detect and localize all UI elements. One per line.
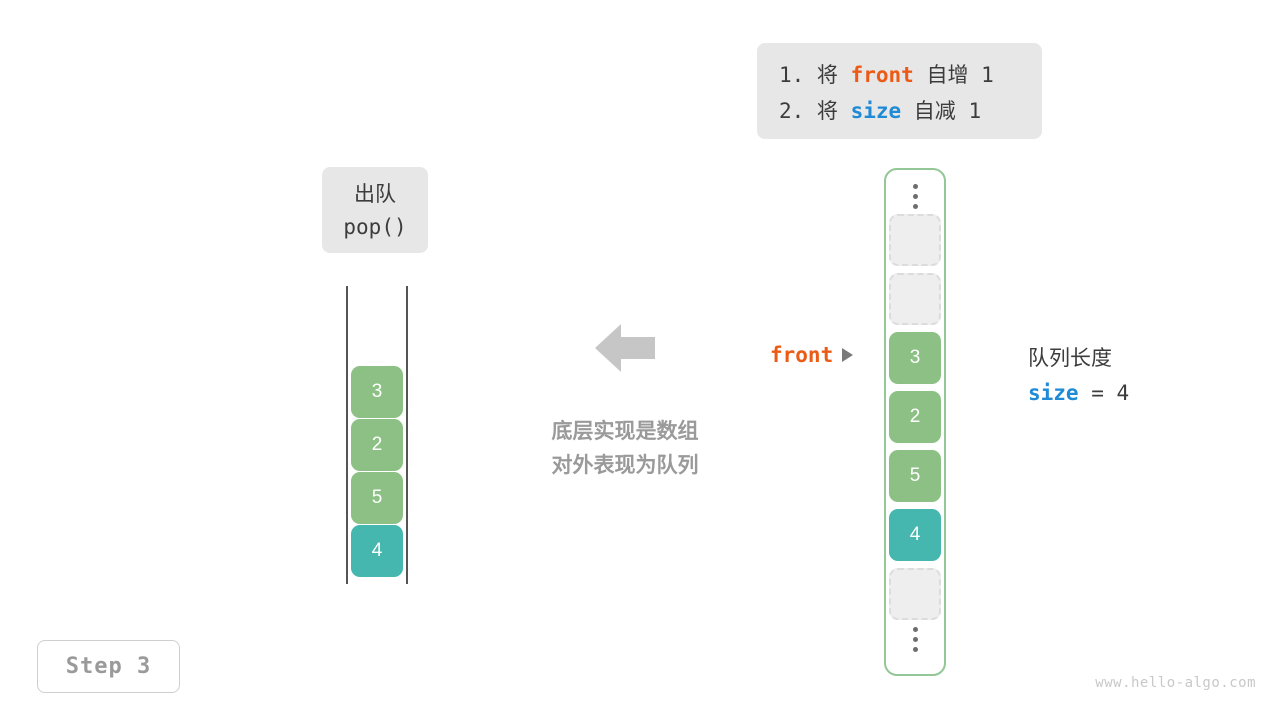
- queue-cell: 2: [351, 419, 403, 471]
- triangle-right-icon: [842, 348, 853, 362]
- queue-cell: 5: [351, 472, 403, 524]
- size-annotation-equals: =: [1079, 381, 1117, 405]
- array-cell: 5: [889, 450, 941, 502]
- queue-cell-stack: 3254: [351, 366, 403, 578]
- size-annotation-expression: size = 4: [1028, 376, 1129, 410]
- array-physical-view: 3254: [884, 168, 946, 676]
- array-cell: 4: [889, 509, 941, 561]
- array-cell: 2: [889, 391, 941, 443]
- left-arrow-icon: [595, 322, 655, 374]
- queue-rail-right: [406, 286, 408, 584]
- instruction-line-1-keyword: front: [851, 63, 914, 87]
- size-annotation: 队列长度 size = 4: [1028, 342, 1129, 410]
- watermark: www.hello-algo.com: [1095, 675, 1256, 691]
- queue-rail-left: [346, 286, 348, 584]
- instruction-line-1: 1. 将 front 自增 1: [779, 57, 1020, 93]
- queue-logical-view: 3254: [346, 286, 408, 584]
- array-cell: 3: [889, 332, 941, 384]
- instruction-line-2-suffix: 自减 1: [901, 99, 981, 123]
- array-cell-stack: 3254: [889, 214, 941, 621]
- operation-label-title: 出队: [322, 179, 428, 211]
- array-empty-cell: [889, 273, 941, 325]
- vertical-ellipsis-icon-bottom: [913, 621, 918, 657]
- instruction-line-2: 2. 将 size 自减 1: [779, 93, 1020, 129]
- array-empty-cell: [889, 214, 941, 266]
- operation-label-pop: 出队 pop(): [322, 167, 428, 253]
- instruction-line-1-prefix: 1. 将: [779, 63, 851, 87]
- diagram-canvas: 1. 将 front 自增 1 2. 将 size 自减 1 出队 pop() …: [0, 0, 1280, 720]
- center-note: 底层实现是数组 对外表现为队列: [530, 415, 720, 483]
- instruction-box: 1. 将 front 自增 1 2. 将 size 自减 1: [757, 43, 1042, 139]
- operation-label-code: pop(): [322, 211, 428, 243]
- instruction-line-2-keyword: size: [851, 99, 902, 123]
- instruction-line-2-prefix: 2. 将: [779, 99, 851, 123]
- size-annotation-value: 4: [1117, 381, 1130, 405]
- vertical-ellipsis-icon-top: [913, 178, 918, 214]
- instruction-line-1-suffix: 自增 1: [914, 63, 994, 87]
- center-note-line-2: 对外表现为队列: [530, 449, 720, 483]
- front-pointer-label: front: [770, 343, 833, 367]
- step-badge-label: Step 3: [66, 654, 151, 679]
- front-pointer: front: [770, 343, 853, 367]
- array-empty-cell: [889, 568, 941, 620]
- queue-cell: 3: [351, 366, 403, 418]
- step-badge: Step 3: [37, 640, 180, 693]
- center-note-line-1: 底层实现是数组: [530, 415, 720, 449]
- size-annotation-title: 队列长度: [1028, 342, 1129, 376]
- queue-cell: 4: [351, 525, 403, 577]
- size-annotation-var: size: [1028, 381, 1079, 405]
